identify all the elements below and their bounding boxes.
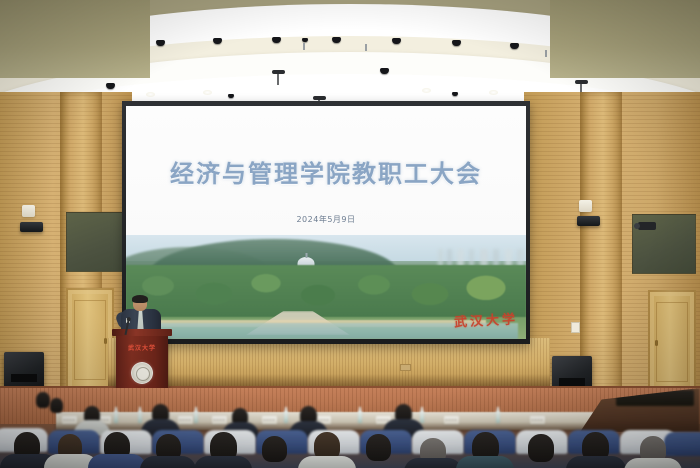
name-card	[62, 416, 77, 424]
slide-title: 经济与管理学院教职工大会	[126, 154, 526, 189]
auditorium-photo: 经济与管理学院教职工大会 2024年5月9日 武汉大学	[0, 0, 700, 468]
audience-head	[50, 398, 63, 413]
speaker-hair	[132, 295, 148, 303]
wall-plate-right	[579, 200, 592, 212]
audience-shoulders	[456, 456, 514, 468]
photo-watermark-calligraphy: 武汉大学	[454, 308, 519, 330]
audience-head	[366, 434, 391, 461]
wall-camera-icon	[638, 222, 656, 230]
water-bottle	[114, 410, 118, 423]
podium-label: 武汉大学	[116, 343, 168, 352]
ceiling-downlight	[146, 92, 155, 97]
ceiling-pendant-speaker	[313, 96, 326, 100]
door-knob-icon	[655, 340, 658, 346]
upper-wall-left	[0, 0, 150, 78]
wall-plate-left	[22, 205, 35, 217]
ceiling-pendant-speaker	[272, 70, 285, 74]
podium-top	[112, 329, 172, 336]
audience-head	[262, 436, 287, 462]
audience-shoulders	[404, 458, 462, 468]
wall-column-right	[580, 92, 622, 392]
podium: 武汉大学	[116, 334, 168, 396]
ceiling-downlight	[489, 90, 498, 95]
stage-door-right[interactable]	[648, 290, 696, 394]
name-card	[444, 416, 459, 424]
water-bottle	[194, 410, 198, 423]
slide-photo: 武汉大学	[126, 235, 526, 339]
slide-date: 2024年5月9日	[126, 214, 526, 225]
projection-screen[interactable]: 经济与管理学院教职工大会 2024年5月9日 武汉大学	[126, 106, 526, 339]
audience-shoulders	[88, 454, 146, 468]
light-switch[interactable]	[571, 322, 580, 333]
stage-door-left[interactable]	[66, 288, 114, 392]
wall-outlet	[400, 364, 411, 371]
light-stem	[545, 50, 547, 57]
wainscot-shadow	[108, 374, 550, 386]
acoustic-panel-left	[66, 212, 130, 272]
light-stem	[365, 44, 367, 51]
audience-head	[528, 434, 554, 462]
ceiling-downlight	[203, 90, 212, 95]
name-card	[178, 416, 193, 424]
water-bottle	[138, 410, 142, 423]
ceiling-pendant-speaker	[575, 80, 588, 84]
upper-wall-right	[550, 0, 700, 78]
light-stem	[303, 43, 305, 50]
university-emblem-icon	[131, 362, 153, 384]
photo-tree-canopy	[126, 265, 526, 317]
audience-shoulders	[298, 456, 356, 468]
audience-area	[0, 388, 700, 468]
auditorium-seat	[664, 432, 700, 456]
audience-head	[36, 392, 50, 408]
audience-shoulders	[566, 456, 626, 468]
water-bottle	[358, 410, 362, 423]
audience-shoulders	[624, 458, 682, 468]
name-card	[530, 416, 545, 424]
wall-speaker-left	[20, 222, 43, 232]
audience-shoulders	[140, 456, 196, 468]
ceiling-downlight	[422, 88, 431, 93]
water-bottle	[420, 410, 424, 423]
name-card	[262, 416, 277, 424]
door-knob-icon	[104, 338, 107, 344]
wall-speaker-right	[577, 216, 600, 226]
water-bottle	[496, 410, 500, 423]
water-bottle	[284, 410, 288, 423]
name-card	[212, 416, 227, 424]
audience-shoulders	[194, 456, 252, 468]
